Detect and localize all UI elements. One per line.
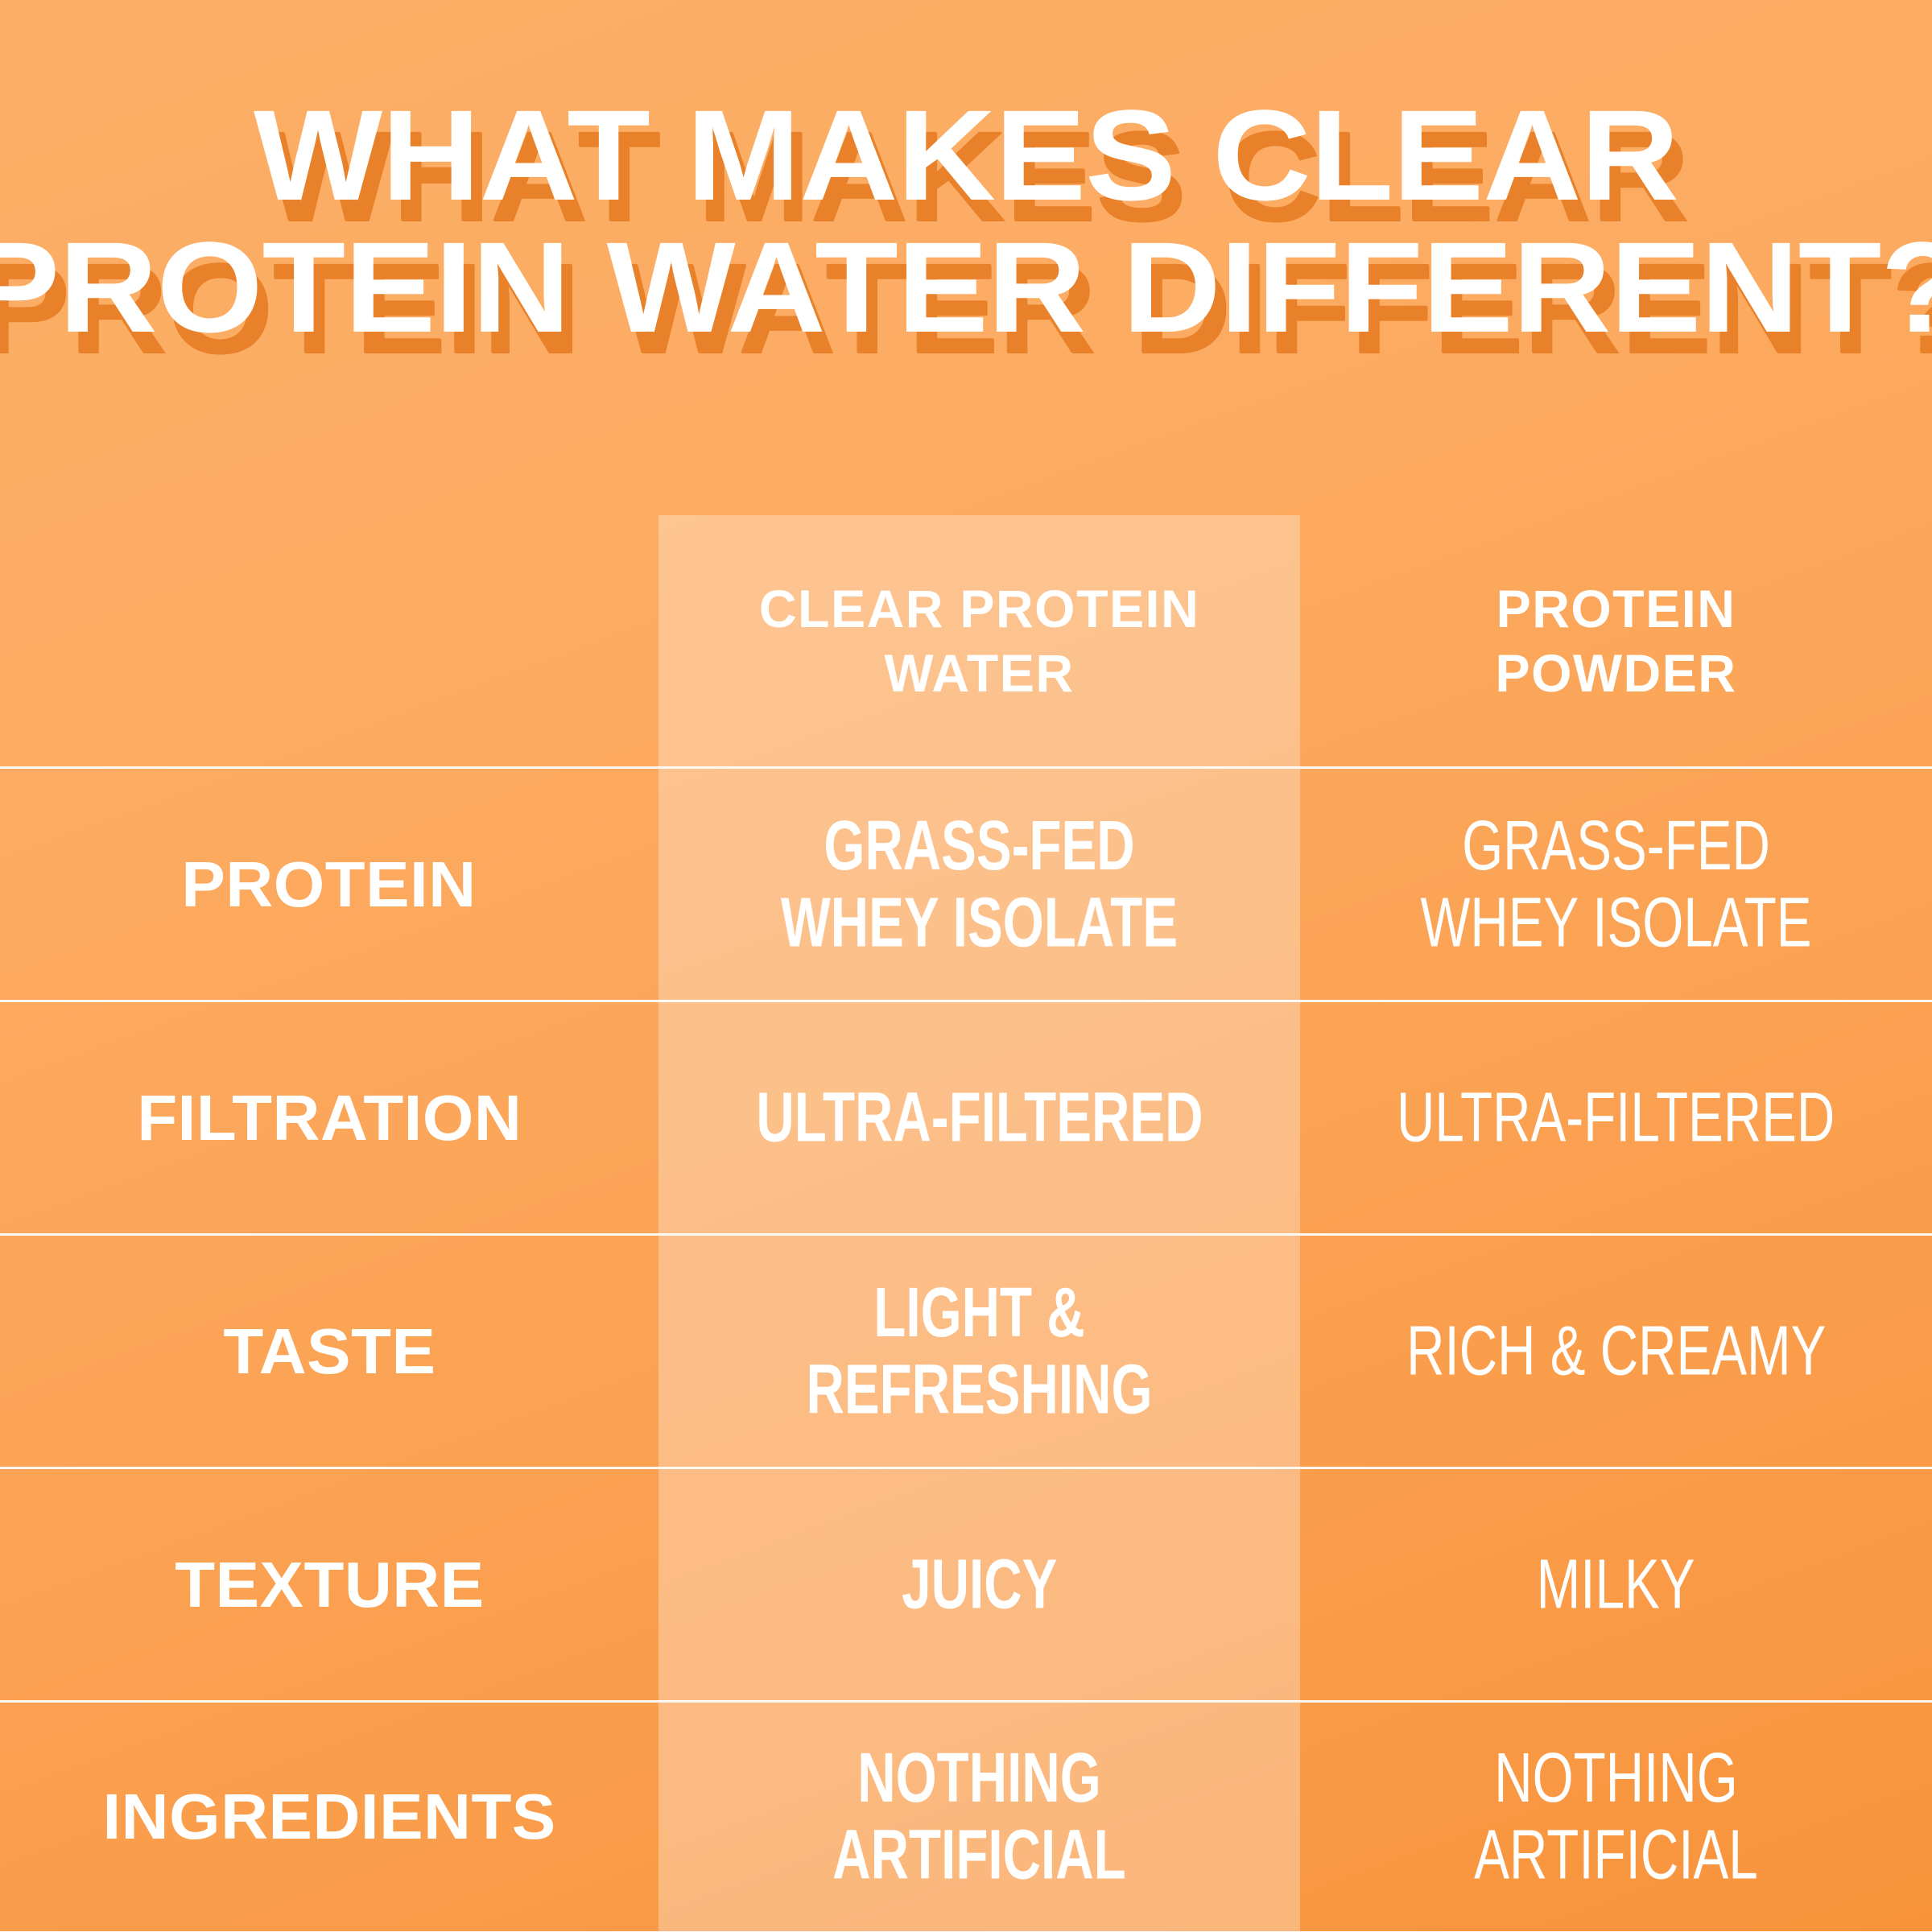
cell-clear-protein-water: ULTRA-FILTERED — [658, 1082, 1300, 1154]
header-cell-clear-protein-water: CLEAR PROTEIN WATER — [658, 576, 1300, 705]
comparison-table: CLEAR PROTEIN WATER PROTEIN POWDER PROTE… — [0, 515, 1932, 1932]
table-row: TASTE LIGHT & REFRESHING RICH & CREAMY — [0, 1233, 1932, 1467]
row-label-ingredients: INGREDIENTS — [102, 1781, 555, 1852]
value-texture-protein-powder: MILKY — [1537, 1546, 1695, 1623]
cell-clear-protein-water: NOTHING ARTIFICIAL — [658, 1744, 1300, 1889]
value-filtration-protein-powder: ULTRA-FILTERED — [1397, 1080, 1835, 1156]
comparison-poster: WHAT MAKES CLEAR PROTEIN WATER DIFFERENT… — [0, 0, 1932, 1932]
page-title: WHAT MAKES CLEAR PROTEIN WATER DIFFERENT… — [0, 95, 1932, 348]
title-line-2: PROTEIN WATER DIFFERENT? — [0, 227, 1932, 348]
value-texture-clear-protein-water: JUICY — [902, 1546, 1057, 1623]
table-row: PROTEIN GRASS-FED WHEY ISOLATE GRASS-FED… — [0, 766, 1932, 1000]
cell-protein-powder: ULTRA-FILTERED — [1300, 1082, 1932, 1154]
cell-protein-powder: RICH & CREAMY — [1300, 1315, 1932, 1388]
value-protein-clear-protein-water: GRASS-FED WHEY ISOLATE — [742, 807, 1217, 961]
value-taste-protein-powder: RICH & CREAMY — [1406, 1313, 1826, 1389]
value-filtration-clear-protein-water: ULTRA-FILTERED — [756, 1080, 1203, 1156]
title-line-1: WHAT MAKES CLEAR — [0, 95, 1932, 216]
value-protein-protein-powder: GRASS-FED WHEY ISOLATE — [1383, 807, 1850, 961]
row-label-texture: TEXTURE — [175, 1550, 484, 1620]
row-label-filtration: FILTRATION — [137, 1083, 522, 1154]
cell-clear-protein-water: GRASS-FED WHEY ISOLATE — [658, 812, 1300, 957]
table-row: INGREDIENTS NOTHING ARTIFICIAL NOTHING A… — [0, 1700, 1932, 1932]
value-ingredients-clear-protein-water: NOTHING ARTIFICIAL — [742, 1740, 1217, 1894]
header-protein-powder-line2: POWDER — [1330, 641, 1902, 705]
row-label-cell: TEXTURE — [0, 1550, 658, 1620]
cell-protein-powder: GRASS-FED WHEY ISOLATE — [1300, 812, 1932, 957]
cell-protein-powder: NOTHING ARTIFICIAL — [1300, 1744, 1932, 1889]
row-label-cell: FILTRATION — [0, 1083, 658, 1154]
cell-protein-powder: MILKY — [1300, 1549, 1932, 1621]
table-row: TEXTURE JUICY MILKY — [0, 1467, 1932, 1700]
header-cell-protein-powder: PROTEIN POWDER — [1300, 576, 1932, 705]
table-row: FILTRATION ULTRA-FILTERED ULTRA-FILTERED — [0, 1000, 1932, 1233]
row-label-cell: TASTE — [0, 1316, 658, 1387]
header-clear-protein-water-line2: WATER — [688, 641, 1269, 705]
row-label-cell: PROTEIN — [0, 849, 658, 920]
row-label-protein: PROTEIN — [182, 849, 477, 920]
table-header-row: CLEAR PROTEIN WATER PROTEIN POWDER — [0, 515, 1932, 766]
row-label-cell: INGREDIENTS — [0, 1781, 658, 1852]
value-taste-clear-protein-water: LIGHT & REFRESHING — [742, 1274, 1217, 1428]
row-label-taste: TASTE — [223, 1316, 436, 1387]
cell-clear-protein-water: LIGHT & REFRESHING — [658, 1279, 1300, 1424]
header-clear-protein-water-line1: CLEAR PROTEIN — [688, 576, 1269, 641]
value-ingredients-protein-powder: NOTHING ARTIFICIAL — [1383, 1740, 1850, 1894]
cell-clear-protein-water: JUICY — [658, 1549, 1300, 1621]
header-protein-powder-line1: PROTEIN — [1330, 576, 1902, 641]
